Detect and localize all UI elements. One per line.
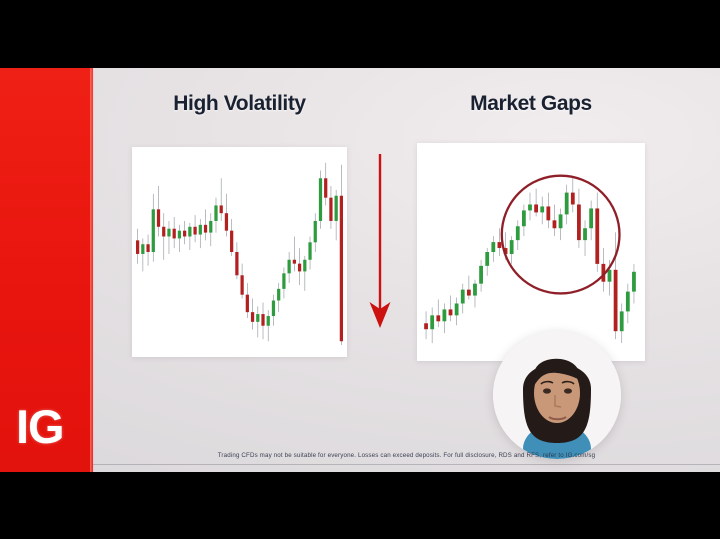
presenter-avatar [493,331,621,459]
brand-rail-edge [90,68,94,472]
chart-panel-high-volatility [132,147,347,357]
presenter-portrait [493,331,621,459]
disclaimer-divider [93,464,720,465]
ig-logo: IG [16,403,64,450]
slide-stage: IG High Volatility Market Gaps [0,68,720,472]
disclaimer-text: Trading CFDs may not be suitable for eve… [93,452,720,459]
candlestick-chart-high-volatility [132,147,347,357]
chart-panel-market-gaps [417,143,645,361]
panel-title-high-volatility: High Volatility [132,92,347,116]
panel-title-market-gaps: Market Gaps [417,92,645,116]
transition-arrow-down-icon [360,152,400,332]
video-frame: IG High Volatility Market Gaps [0,0,720,539]
candlestick-chart-market-gaps [417,143,645,361]
